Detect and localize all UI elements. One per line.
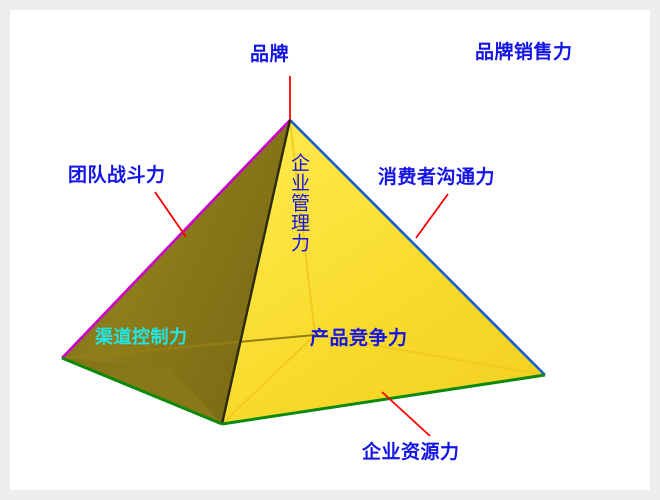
pyramid-diagram	[10, 10, 650, 490]
label-enterprise-resource-power: 企业资源力	[362, 442, 460, 463]
left-face-leader-line	[155, 192, 186, 237]
label-product-competitiveness: 产品竞争力	[310, 328, 408, 349]
right-face-leader-line	[416, 194, 448, 238]
label-consumer-communication-power: 消费者沟通力	[378, 167, 495, 188]
label-enterprise-management-power: 企业管理力	[286, 153, 313, 253]
label-apex-brand: 品牌	[250, 44, 289, 65]
label-channel-control-power: 渠道控制力	[95, 328, 188, 347]
image-frame: 品牌 品牌销售力 团队战斗力 消费者沟通力 企业管理力 渠道控制力 产品竞争力 …	[0, 0, 660, 500]
diagram-canvas: 品牌 品牌销售力 团队战斗力 消费者沟通力 企业管理力 渠道控制力 产品竞争力 …	[10, 10, 650, 490]
label-title-brand-sales-power: 品牌销售力	[475, 42, 573, 63]
label-team-combat-power: 团队战斗力	[68, 165, 166, 186]
bottom-leader-line	[382, 392, 430, 436]
